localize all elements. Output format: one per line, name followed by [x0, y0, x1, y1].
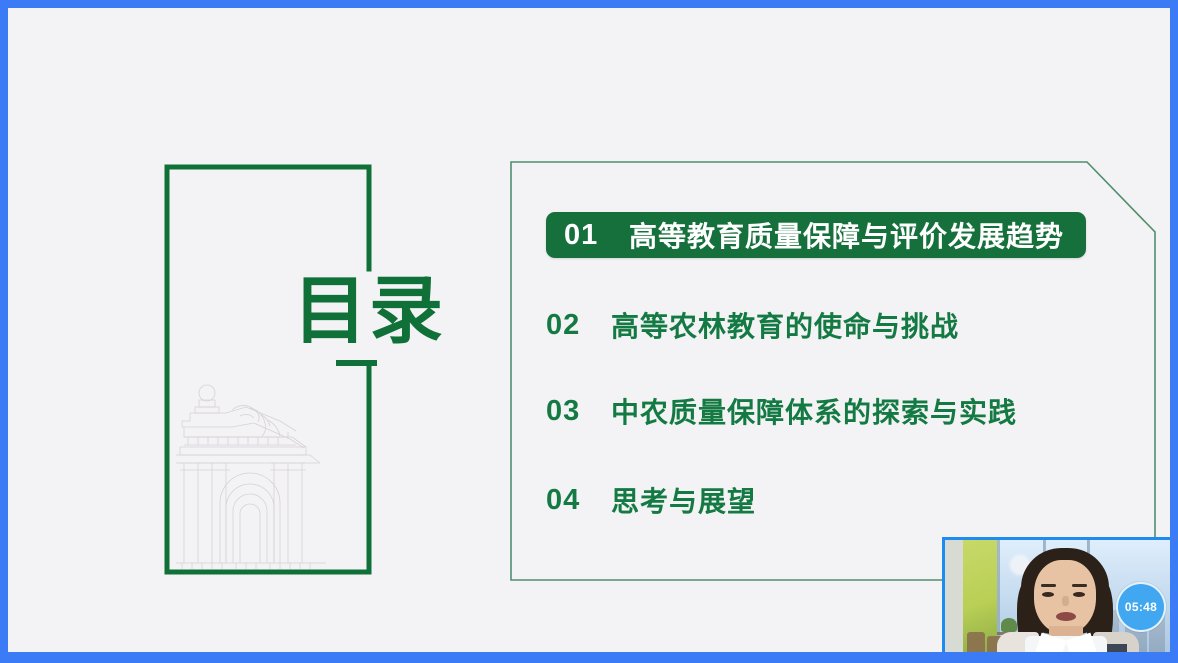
- avatar-mouth: [1056, 612, 1076, 621]
- toc-decorative-frame: [157, 157, 377, 582]
- avatar-eye-left: [1042, 592, 1054, 597]
- avatar-brow-right: [1072, 584, 1087, 587]
- screen-share-frame: 目录 01 高等教育质量保障与评价发展趋势 02 高等农林教育的使命与挑战 03…: [0, 0, 1178, 663]
- toc-item-label: 高等教育质量保障与评价发展趋势: [629, 215, 1064, 255]
- toc-item-03[interactable]: 03 中农质量保障体系的探索与实践: [546, 389, 1017, 433]
- toc-item-number: 01: [564, 219, 616, 252]
- toc-item-number: 04: [546, 484, 598, 517]
- chair: [967, 632, 985, 652]
- timer-badge-icon[interactable]: 05:48: [1116, 582, 1166, 632]
- toc-item-number: 02: [546, 309, 598, 342]
- toc-list: 01 高等教育质量保障与评价发展趋势 02 高等农林教育的使命与挑战 03 中农…: [511, 158, 1151, 579]
- toc-item-number: 03: [546, 395, 598, 428]
- plant: [1001, 618, 1017, 632]
- toc-item-label: 高等农林教育的使命与挑战: [611, 305, 959, 345]
- toc-item-label: 思考与展望: [611, 480, 756, 520]
- avatar-eye-right: [1073, 592, 1085, 597]
- toc-item-label: 中农质量保障体系的探索与实践: [611, 391, 1017, 431]
- avatar-nose: [1062, 596, 1069, 606]
- slide-canvas: 目录 01 高等教育质量保障与评价发展趋势 02 高等农林教育的使命与挑战 03…: [8, 8, 1170, 652]
- avatar-brow-left: [1041, 584, 1056, 587]
- toc-item-04[interactable]: 04 思考与展望: [546, 478, 756, 522]
- toc-item-02[interactable]: 02 高等农林教育的使命与挑战: [546, 303, 959, 347]
- toc-item-01[interactable]: 01 高等教育质量保障与评价发展趋势: [546, 212, 1086, 258]
- page-title: 目录: [293, 273, 445, 349]
- video-pip-thumbnail[interactable]: 05:48: [942, 537, 1170, 652]
- wall-gray: [945, 540, 963, 652]
